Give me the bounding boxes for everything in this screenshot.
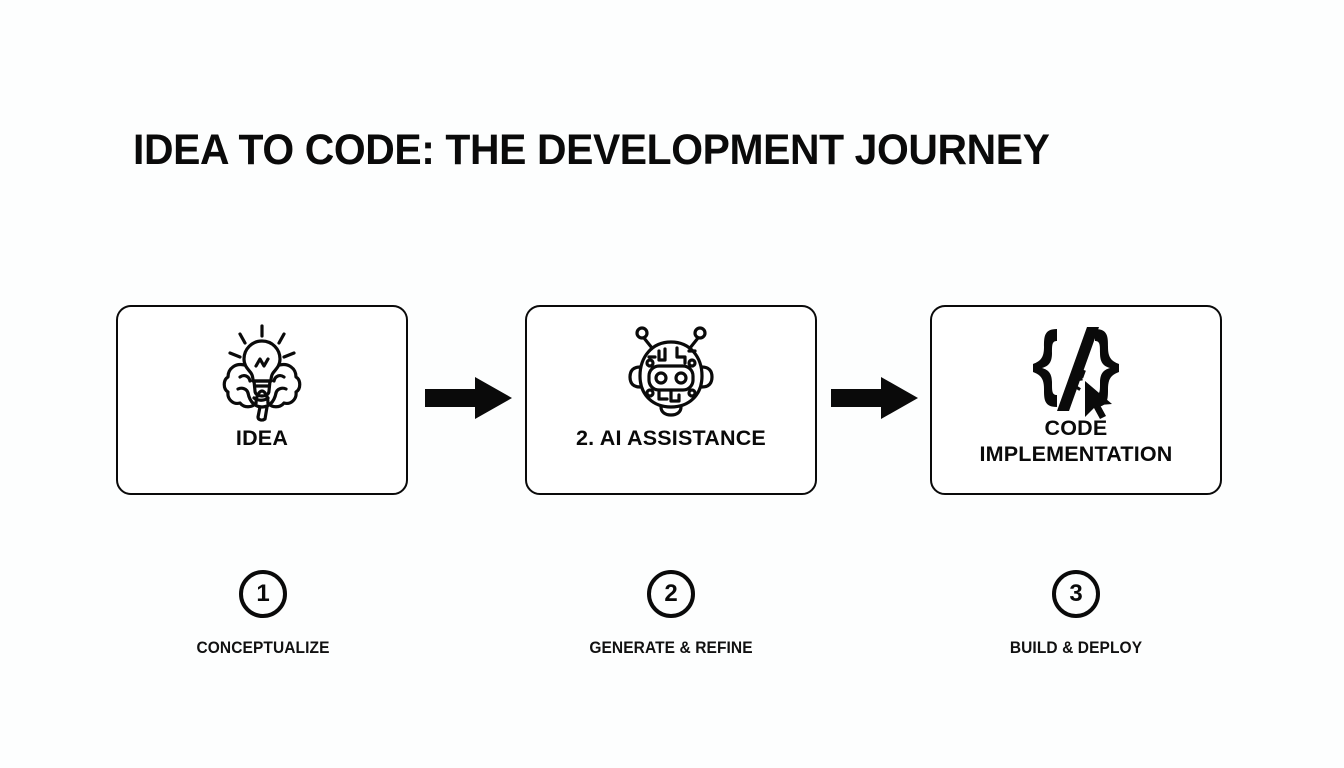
code-brackets-cursor-icon: [932, 315, 1220, 427]
step-1[interactable]: 1 CONCEPTUALIZE: [113, 570, 413, 658]
page-title: IDEA TO CODE: THE DEVELOPMENT JOURNEY: [133, 126, 1050, 175]
step-2[interactable]: 2 GENERATE & REFINE: [521, 570, 821, 658]
step-2-caption: GENERATE & REFINE: [530, 639, 812, 658]
step-3[interactable]: 3 BUILD & DEPLOY: [926, 570, 1226, 658]
step-2-number: 2: [647, 570, 695, 618]
slide-canvas: IDEA TO CODE: THE DEVELOPMENT JOURNEY: [0, 0, 1344, 768]
card-code-implementation-label: CODE IMPLEMENTATION: [918, 415, 1234, 467]
brain-lightbulb-icon: [118, 315, 406, 427]
process-cards-row: IDEA: [0, 305, 1344, 499]
step-3-number: 3: [1052, 570, 1100, 618]
card-code-implementation-label-line2: IMPLEMENTATION: [918, 441, 1234, 467]
card-idea-label: IDEA: [104, 425, 420, 451]
card-code-implementation-label-line1: CODE: [918, 415, 1234, 441]
arrow-right-icon-2: [831, 376, 919, 420]
arrow-right-icon-1: [425, 376, 513, 420]
card-ai-assistance-label: 2. AI ASSISTANCE: [513, 425, 829, 451]
card-ai-assistance[interactable]: 2. AI ASSISTANCE: [525, 305, 817, 495]
steps-row: 1 CONCEPTUALIZE 2 GENERATE & REFINE 3 BU…: [0, 570, 1344, 680]
card-code-implementation[interactable]: CODE IMPLEMENTATION: [930, 305, 1222, 495]
step-1-caption: CONCEPTUALIZE: [122, 639, 404, 658]
card-idea[interactable]: IDEA: [116, 305, 408, 495]
robot-head-icon: [527, 315, 815, 427]
step-1-number: 1: [239, 570, 287, 618]
step-3-caption: BUILD & DEPLOY: [935, 639, 1217, 658]
